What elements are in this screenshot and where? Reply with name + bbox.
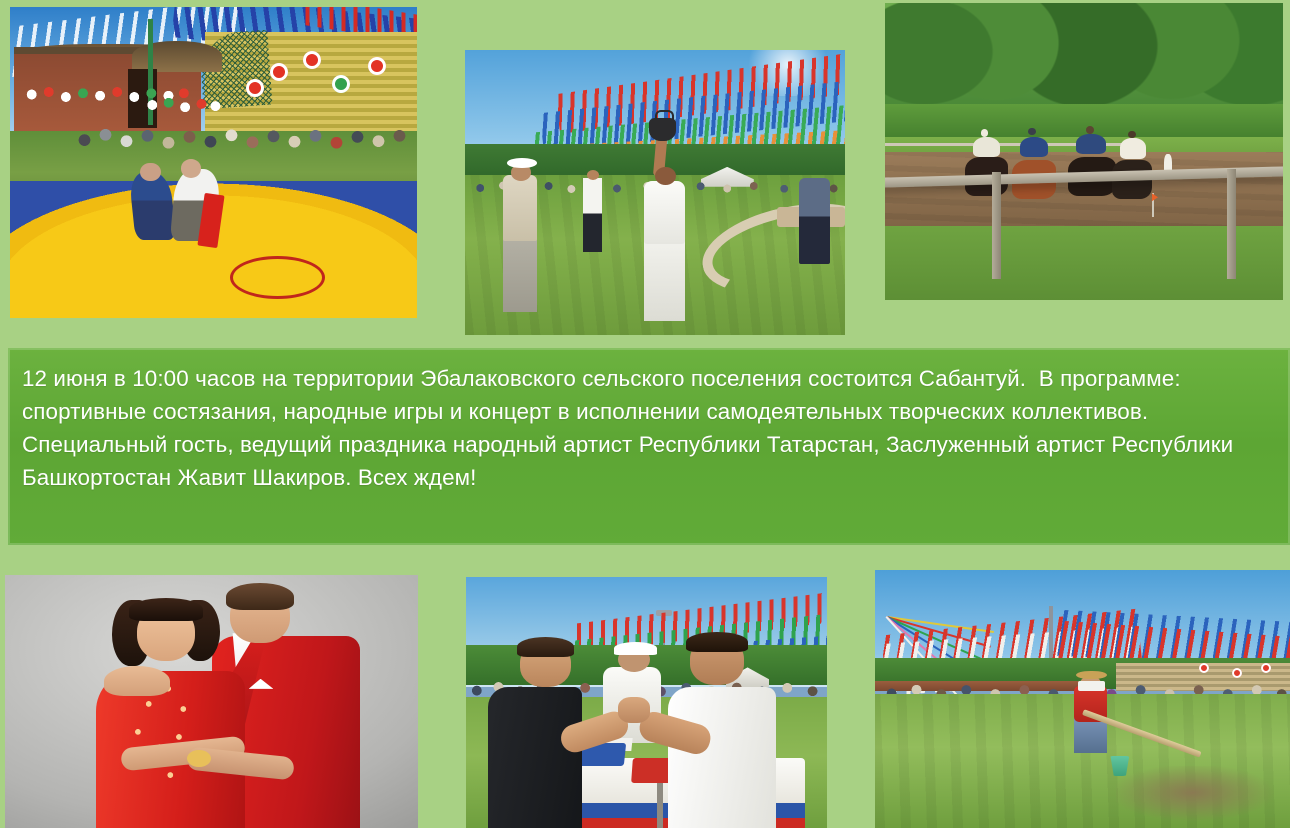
kettlebell-handle-icon <box>655 110 674 123</box>
table-peg <box>657 783 663 828</box>
jockey <box>973 137 1001 158</box>
kettlebell-photo <box>465 50 845 335</box>
jockey <box>1120 138 1146 159</box>
athlete-head <box>655 167 676 185</box>
locked-hands <box>618 697 650 722</box>
wrestling-photo <box>10 7 417 318</box>
jockey <box>1076 134 1106 155</box>
jockey-head <box>1128 131 1136 139</box>
man-shirt <box>503 175 537 241</box>
dirt-patch <box>1116 766 1290 828</box>
stage-roof-right <box>132 41 222 72</box>
woman-shoulder <box>104 666 170 696</box>
athlete-trousers <box>644 235 686 321</box>
wrestler-head <box>140 163 160 182</box>
side-person <box>799 178 829 264</box>
background-man-head <box>587 170 599 180</box>
white-hat <box>507 158 537 168</box>
artists-photo <box>5 575 418 828</box>
referee-cap <box>614 642 657 655</box>
right-competitor-shirt <box>668 687 776 828</box>
flower-icon <box>368 57 386 75</box>
spectators <box>67 103 417 156</box>
background-man <box>583 178 602 252</box>
left-competitor-hair <box>517 637 575 657</box>
woman-hair-top <box>129 598 203 621</box>
arm-wrestling-photo <box>466 577 827 828</box>
jockey-head <box>1086 126 1094 134</box>
horse-race-photo <box>885 3 1283 300</box>
pot-breaking-photo <box>875 570 1290 828</box>
announcement-banner: 12 июня в 10:00 часов на территории Эбал… <box>8 348 1290 545</box>
man-hair <box>226 583 294 611</box>
jockey <box>1020 137 1048 158</box>
left-competitor-shirt <box>488 687 582 828</box>
flower-icon <box>246 79 264 97</box>
man-trousers <box>503 232 537 312</box>
flower-icon <box>1199 663 1209 673</box>
poster-page: 12 июня в 10:00 часов на территории Эбал… <box>0 0 1290 828</box>
flower-icon <box>303 51 321 69</box>
mat-ring <box>230 256 326 299</box>
flower-icon <box>332 75 350 93</box>
blindfold-icon <box>1078 681 1105 691</box>
right-competitor-hair <box>686 632 747 652</box>
fence-post <box>1227 169 1236 279</box>
announcement-text: 12 июня в 10:00 часов на территории Эбал… <box>22 362 1268 494</box>
fence-post <box>992 172 1001 279</box>
foreground-grass <box>885 226 1283 300</box>
flower-icon <box>1261 663 1271 673</box>
athlete-shirt <box>644 181 686 244</box>
